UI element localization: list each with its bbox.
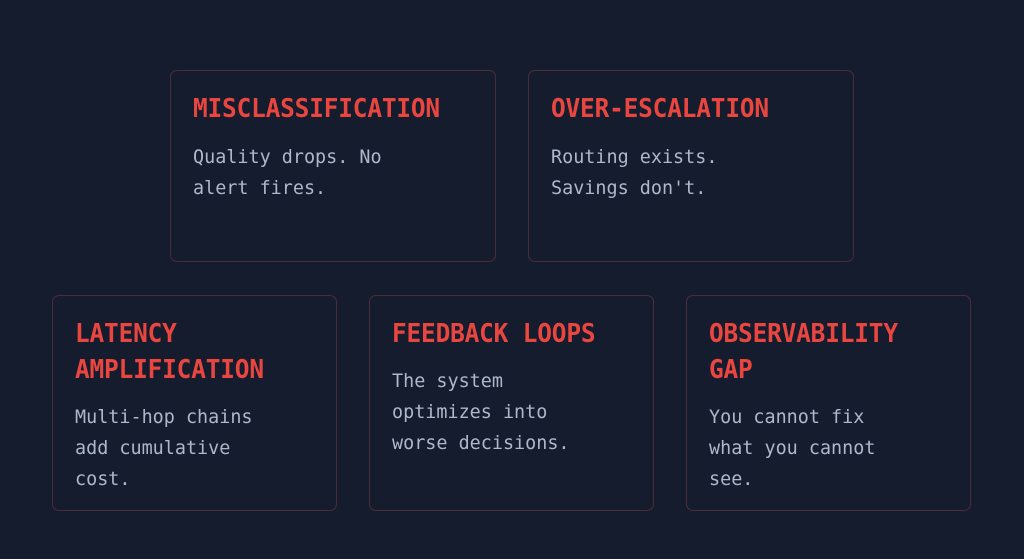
card-body: Routing exists. Savings don't.: [551, 142, 823, 204]
card-title: OBSERVABILITY GAP: [709, 316, 934, 388]
card-misclassification: MISCLASSIFICATION Quality drops. No aler…: [170, 70, 496, 262]
card-over-escalation: OVER-ESCALATION Routing exists. Savings …: [528, 70, 854, 262]
card-observability-gap: OBSERVABILITY GAP You cannot fix what yo…: [686, 295, 971, 511]
failure-modes-board: MISCLASSIFICATION Quality drops. No aler…: [0, 0, 1024, 559]
card-title: FEEDBACK LOOPS: [392, 316, 617, 352]
card-body: You cannot fix what you cannot see.: [709, 402, 941, 495]
card-title: MISCLASSIFICATION: [193, 91, 456, 127]
card-body: The system optimizes into worse decision…: [392, 366, 624, 459]
card-title: LATENCY AMPLIFICATION: [75, 316, 300, 388]
card-feedback-loops: FEEDBACK LOOPS The system optimizes into…: [369, 295, 654, 511]
card-latency-amplification: LATENCY AMPLIFICATION Multi-hop chains a…: [52, 295, 337, 511]
card-title: OVER-ESCALATION: [551, 91, 814, 127]
card-body: Multi-hop chains add cumulative cost.: [75, 402, 307, 495]
card-body: Quality drops. No alert fires.: [193, 142, 465, 204]
